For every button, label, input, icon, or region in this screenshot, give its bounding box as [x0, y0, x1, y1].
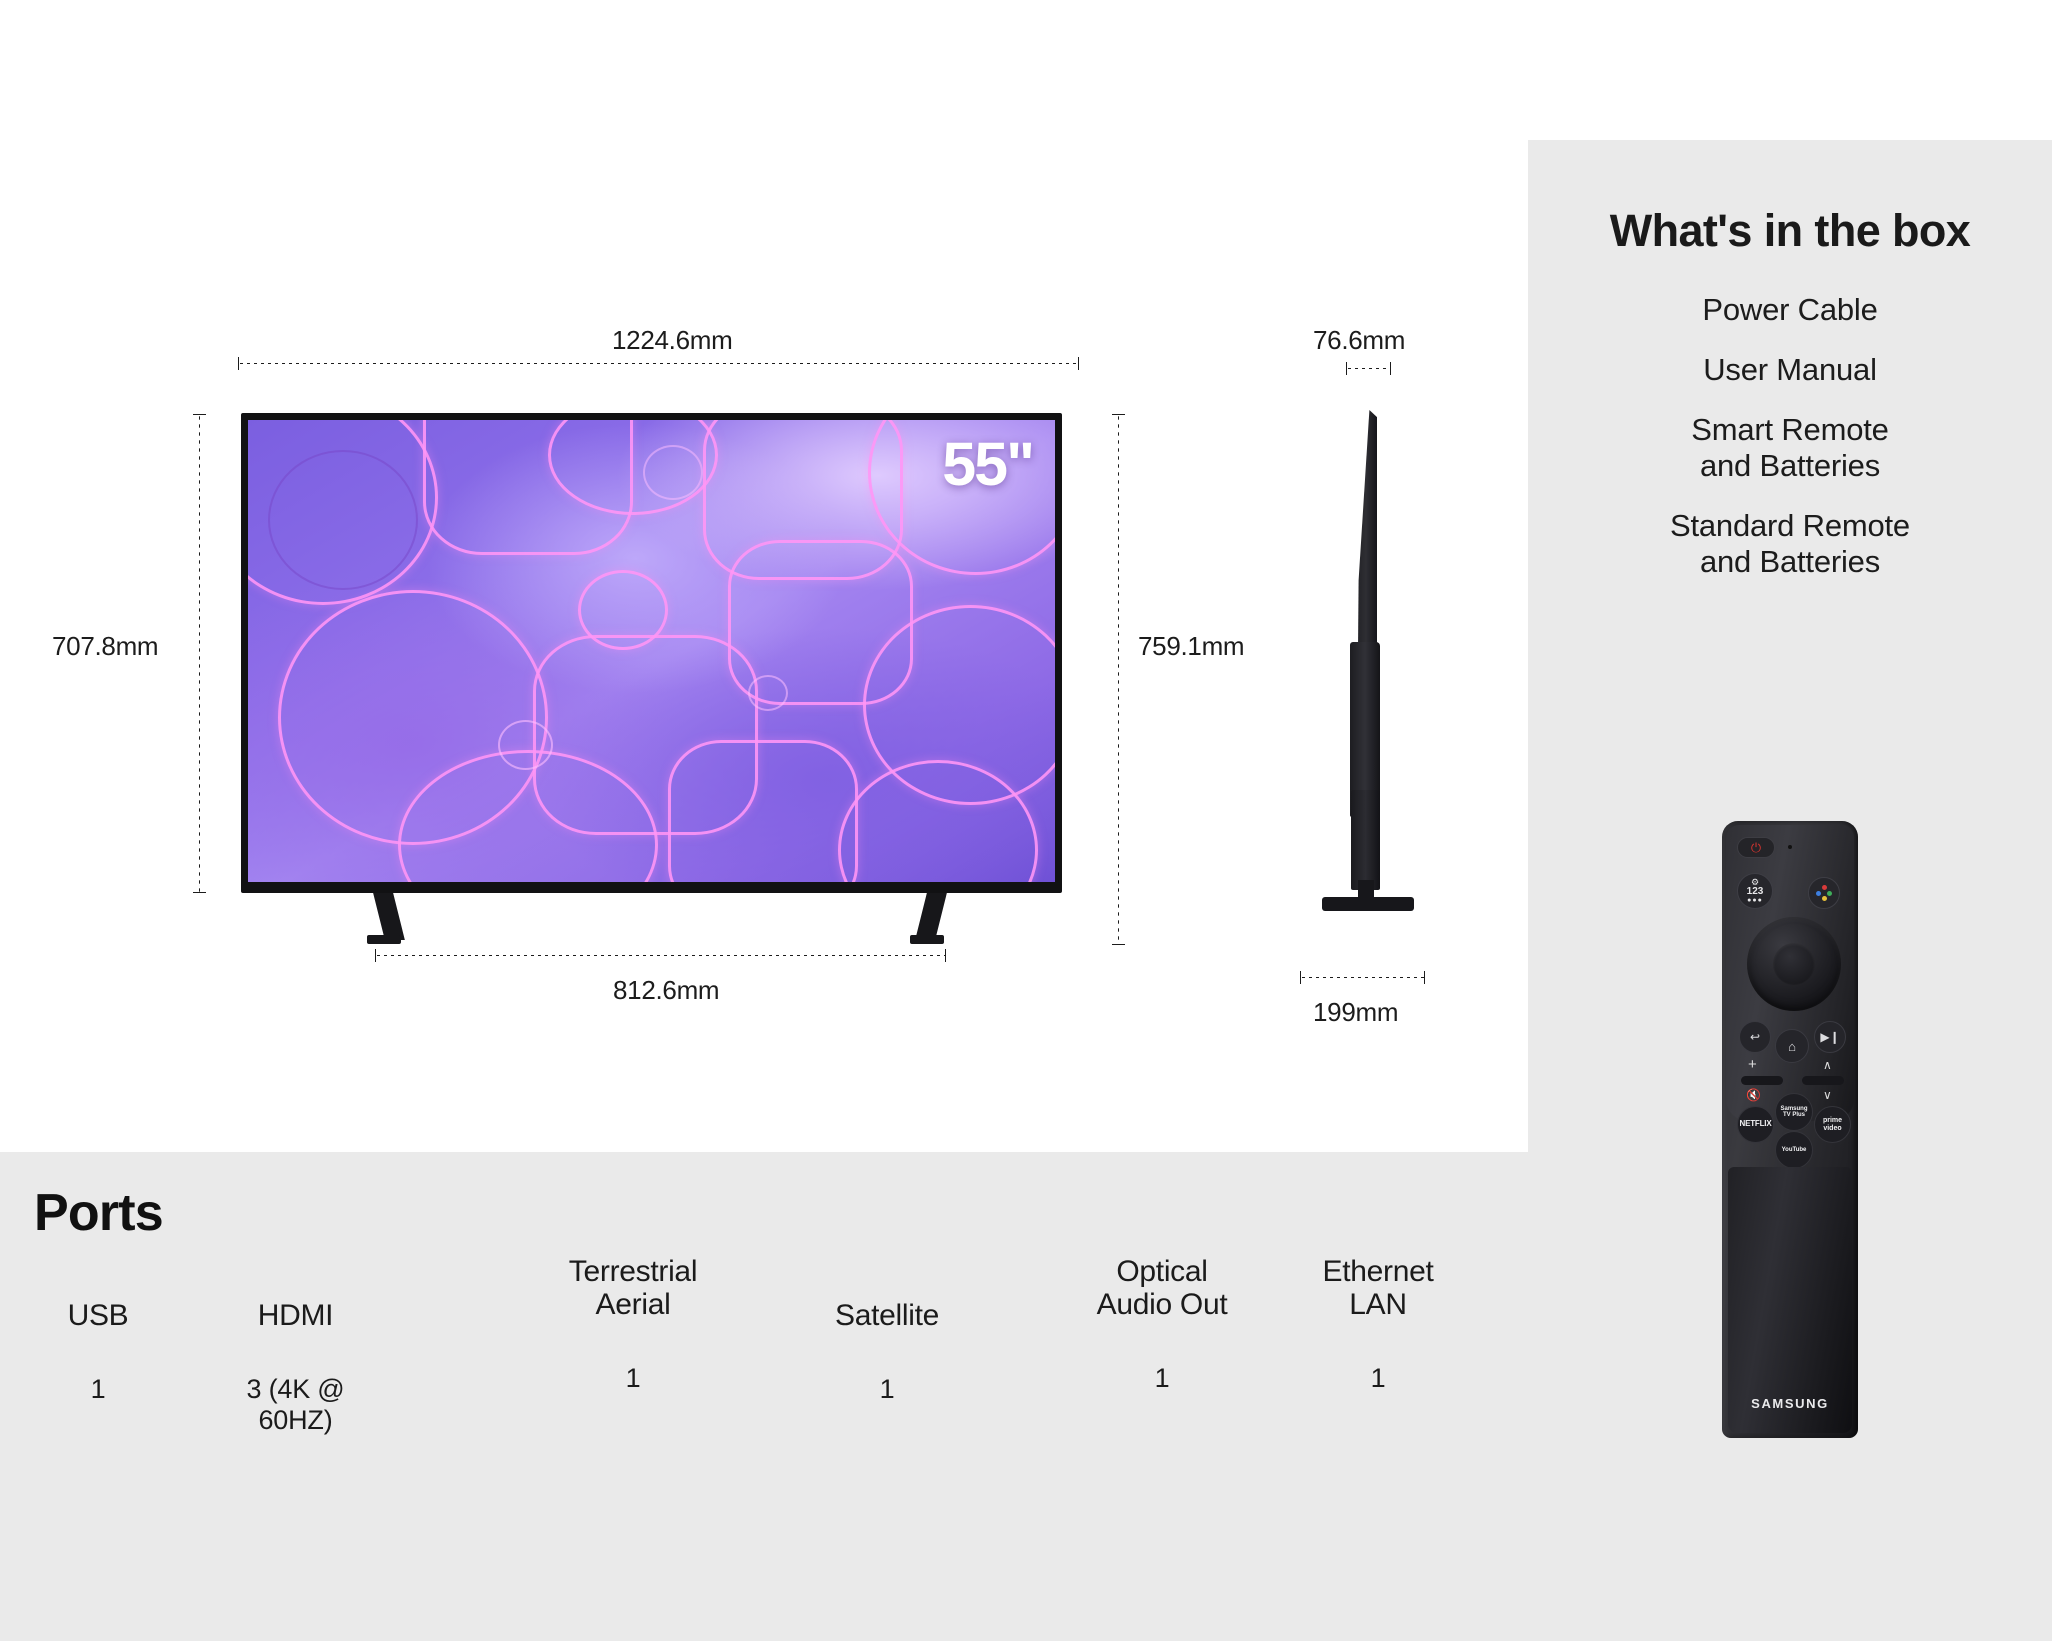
youtube-button[interactable]: YouTube — [1775, 1131, 1813, 1169]
port-value: 1 — [48, 1374, 148, 1405]
tv-front-view: 55" — [241, 413, 1062, 893]
color-dot-grid — [1816, 885, 1832, 901]
front-width-dimension-line — [238, 363, 1078, 364]
dim-cap — [1112, 944, 1125, 945]
green-dot-icon — [1827, 891, 1832, 896]
port-column-satellite: Satellite 1 — [812, 1299, 962, 1405]
samsung-tv-plus-button[interactable]: Samsung TV Plus — [1775, 1093, 1813, 1131]
tv-stand-foot-left — [373, 893, 405, 940]
port-column-optical-audio-out: Optical Audio Out 1 — [1072, 1255, 1252, 1394]
dim-cap — [1078, 357, 1079, 370]
tv-screen-wallpaper: 55" — [248, 420, 1055, 882]
numeric-label: 123 — [1747, 887, 1764, 898]
port-name-line1: USB — [68, 1299, 129, 1332]
home-button[interactable]: ⌂ — [1775, 1029, 1809, 1063]
port-name-line1: Optical — [1116, 1255, 1207, 1288]
whats-in-the-box-title: What's in the box — [1528, 205, 2052, 257]
box-item: Smart Remote and Batteries — [1528, 412, 2052, 484]
side-depth-label: 76.6mm — [1313, 325, 1405, 356]
side-stand-depth-dimension-line — [1300, 977, 1424, 978]
port-value: 3 (4K @ 60HZ) — [233, 1374, 358, 1436]
port-column-terrestrial-aerial: Terrestrial Aerial 1 — [543, 1255, 723, 1394]
port-name-line1: Ethernet — [1322, 1255, 1433, 1288]
netflix-button[interactable]: NETFLIX — [1737, 1106, 1774, 1143]
port-name: Terrestrial Aerial — [543, 1255, 723, 1321]
box-item: Standard Remote and Batteries — [1528, 508, 2052, 580]
remote-upper-face: ⏻ ⚙ 123 ●●● ↩ ⌂ ▶❙ + ∧ — [1726, 825, 1854, 1121]
box-item-line1: Power Cable — [1702, 292, 1877, 327]
whats-in-the-box-list: Power Cable User Manual Smart Remote and… — [1528, 292, 2052, 604]
more-dots-icon: ●●● — [1747, 897, 1763, 904]
product-spec-page: What's in the box Power Cable User Manua… — [0, 0, 2052, 1641]
port-column-ethernet-lan: Ethernet LAN 1 — [1288, 1255, 1468, 1394]
dim-cap — [1300, 971, 1301, 984]
box-item-line2: and Batteries — [1528, 544, 2052, 580]
dim-cap — [1424, 971, 1425, 984]
dim-cap — [1112, 414, 1125, 415]
tv-side-neck — [1351, 790, 1380, 890]
color-buttons-icon[interactable] — [1808, 877, 1840, 909]
front-stand-width-label: 812.6mm — [613, 975, 719, 1006]
port-value: 1 — [1072, 1363, 1252, 1394]
front-height-label: 707.8mm — [52, 631, 158, 662]
front-width-label: 1224.6mm — [612, 325, 732, 356]
side-stand-depth-label: 199mm — [1313, 997, 1398, 1028]
volume-up-label[interactable]: + — [1748, 1057, 1757, 1072]
port-value: 1 — [812, 1374, 962, 1405]
dim-cap — [1346, 362, 1347, 375]
dim-cap — [945, 949, 946, 962]
ports-row: USB 1 HDMI 3 (4K @ 60HZ) Terrestrial Aer… — [0, 1255, 1500, 1425]
port-value: 1 — [1288, 1363, 1468, 1394]
port-value: 1 — [543, 1363, 723, 1394]
front-height-with-stand-dimension-line — [1118, 414, 1119, 944]
dim-cap — [193, 414, 206, 415]
dim-cap — [1390, 362, 1391, 375]
channel-up-icon[interactable]: ∧ — [1823, 1059, 1832, 1071]
channel-down-icon[interactable]: ∨ — [1823, 1089, 1832, 1101]
dim-cap — [375, 949, 376, 962]
remote-lower-body: SAMSUNG — [1728, 1167, 1852, 1433]
port-name: HDMI — [233, 1299, 358, 1332]
tv-stand-foot-right — [915, 893, 947, 940]
front-height-with-stand-label: 759.1mm — [1138, 631, 1244, 662]
port-name-line1: Terrestrial — [569, 1255, 697, 1288]
port-name: USB — [48, 1299, 148, 1332]
volume-rocker[interactable] — [1741, 1076, 1783, 1085]
play-pause-button[interactable]: ▶❙ — [1814, 1021, 1846, 1053]
dim-cap — [193, 892, 206, 893]
mute-icon[interactable]: 🔇 — [1746, 1088, 1761, 1102]
back-button[interactable]: ↩ — [1739, 1021, 1771, 1053]
blue-dot-icon — [1816, 891, 1821, 896]
port-name: Ethernet LAN — [1288, 1255, 1468, 1321]
screen-size-badge: 55" — [942, 434, 1033, 495]
port-column-usb: USB 1 — [48, 1299, 148, 1405]
front-height-dimension-line — [199, 414, 200, 892]
box-item: User Manual — [1528, 352, 2052, 388]
port-name-line2: Aerial — [596, 1288, 671, 1321]
remote-led-indicator — [1788, 845, 1792, 849]
smart-remote: ⏻ ⚙ 123 ●●● ↩ ⌂ ▶❙ + ∧ — [1722, 821, 1858, 1438]
samsung-brand-logo: SAMSUNG — [1728, 1396, 1852, 1411]
port-name-line1: HDMI — [258, 1299, 333, 1332]
tv-stand-foot-left-base — [367, 935, 401, 944]
port-name-line1: Satellite — [835, 1299, 939, 1332]
box-item-line1: Standard Remote — [1670, 508, 1910, 543]
settings-numeric-button[interactable]: ⚙ 123 ●●● — [1737, 873, 1773, 909]
box-item-line1: Smart Remote — [1691, 412, 1888, 447]
box-item-line2: and Batteries — [1528, 448, 2052, 484]
tv-stand-foot-right-base — [910, 935, 944, 944]
power-icon[interactable]: ⏻ — [1737, 837, 1775, 858]
red-dot-icon — [1822, 885, 1827, 890]
dim-cap — [238, 357, 239, 370]
directional-pad[interactable] — [1747, 917, 1841, 1011]
prime-video-button[interactable]: prime video — [1814, 1106, 1851, 1143]
yellow-dot-icon — [1822, 896, 1827, 901]
port-name: Satellite — [812, 1299, 962, 1332]
port-name-line2: LAN — [1349, 1288, 1406, 1321]
side-depth-dimension-line — [1346, 368, 1390, 369]
front-stand-width-dimension-line — [375, 955, 945, 956]
tv-side-base — [1322, 897, 1414, 911]
box-item: Power Cable — [1528, 292, 2052, 328]
port-column-hdmi: HDMI 3 (4K @ 60HZ) — [233, 1299, 358, 1436]
port-name: Optical Audio Out — [1072, 1255, 1252, 1321]
tv-side-view — [1295, 410, 1445, 920]
ports-title: Ports — [34, 1183, 163, 1243]
port-name-line2: Audio Out — [1097, 1288, 1228, 1321]
channel-rocker[interactable] — [1802, 1076, 1844, 1085]
box-item-line1: User Manual — [1703, 352, 1877, 387]
